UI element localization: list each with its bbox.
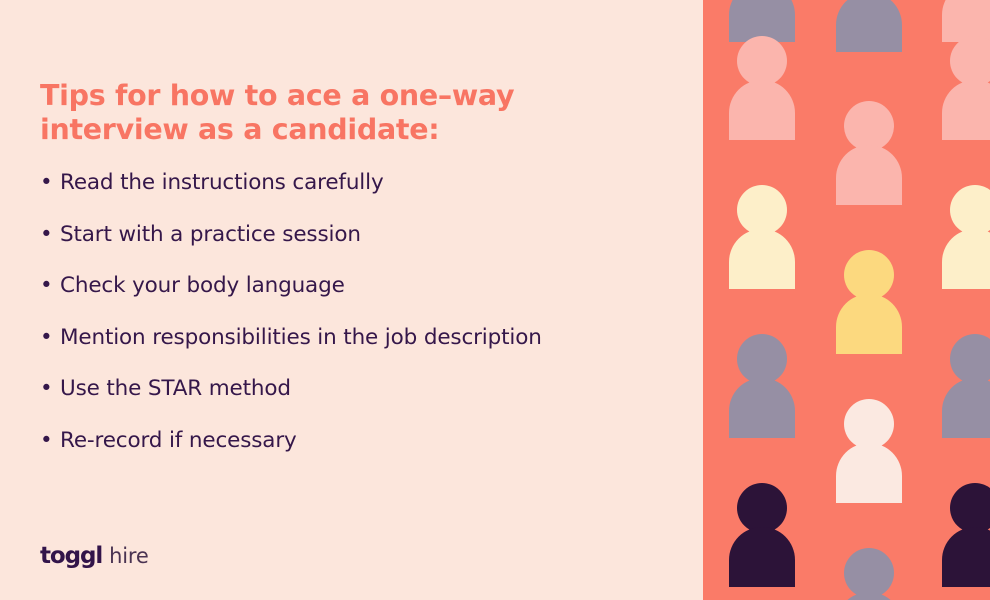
person-head-icon (737, 483, 787, 533)
person-head-icon (950, 36, 990, 86)
toggl-hire-logo: toggl hire (40, 543, 149, 569)
person-head-icon (737, 334, 787, 384)
list-item-label: Mention responsibilities in the job desc… (60, 327, 680, 349)
person-head-icon (737, 36, 787, 86)
bullet-icon: • (40, 224, 60, 246)
list-item: • Use the STAR method (40, 378, 680, 430)
list-item: • Read the instructions carefully (40, 172, 680, 224)
person-body-icon (942, 527, 990, 587)
person-head-icon (737, 185, 787, 235)
person-head-icon (950, 483, 990, 533)
bullet-icon: • (40, 378, 60, 400)
person-body-icon (729, 80, 795, 140)
bullet-icon: • (40, 327, 60, 349)
person-head-icon (844, 101, 894, 151)
person-body-icon (836, 294, 902, 354)
person-body-icon (942, 80, 990, 140)
slide-canvas: Tips for how to ace a one–way interview … (0, 0, 990, 600)
person-head-icon (844, 250, 894, 300)
person-body-icon (729, 229, 795, 289)
person-head-icon (844, 399, 894, 449)
person-head-icon (844, 548, 894, 598)
bullet-icon: • (40, 430, 60, 452)
person-body-icon (836, 443, 902, 503)
person-body-icon (836, 145, 902, 205)
content-panel: Tips for how to ace a one–way interview … (0, 0, 703, 600)
list-item-label: Start with a practice session (60, 224, 680, 246)
list-item-label: Check your body language (60, 275, 680, 297)
list-item-label: Read the instructions carefully (60, 172, 680, 194)
bullet-icon: • (40, 172, 60, 194)
bullet-icon: • (40, 275, 60, 297)
person-body-icon (729, 378, 795, 438)
person-head-icon (950, 334, 990, 384)
person-body-icon (942, 229, 990, 289)
list-item: • Mention responsibilities in the job de… (40, 327, 680, 379)
list-item-label: Use the STAR method (60, 378, 680, 400)
logo-product-text: hire (109, 544, 148, 568)
person-body-icon (942, 0, 990, 42)
person-body-icon (836, 592, 902, 600)
decorative-pattern-panel (703, 0, 990, 600)
person-body-icon (729, 527, 795, 587)
list-item: • Start with a practice session (40, 224, 680, 276)
list-item-label: Re-record if necessary (60, 430, 680, 452)
tips-list: • Read the instructions carefully • Star… (40, 172, 680, 481)
page-title: Tips for how to ace a one–way interview … (40, 79, 660, 146)
logo-brand-text: toggl (40, 543, 102, 569)
person-body-icon (836, 0, 902, 52)
person-body-icon (942, 378, 990, 438)
list-item: • Check your body language (40, 275, 680, 327)
person-head-icon (950, 185, 990, 235)
list-item: • Re-record if necessary (40, 430, 680, 482)
